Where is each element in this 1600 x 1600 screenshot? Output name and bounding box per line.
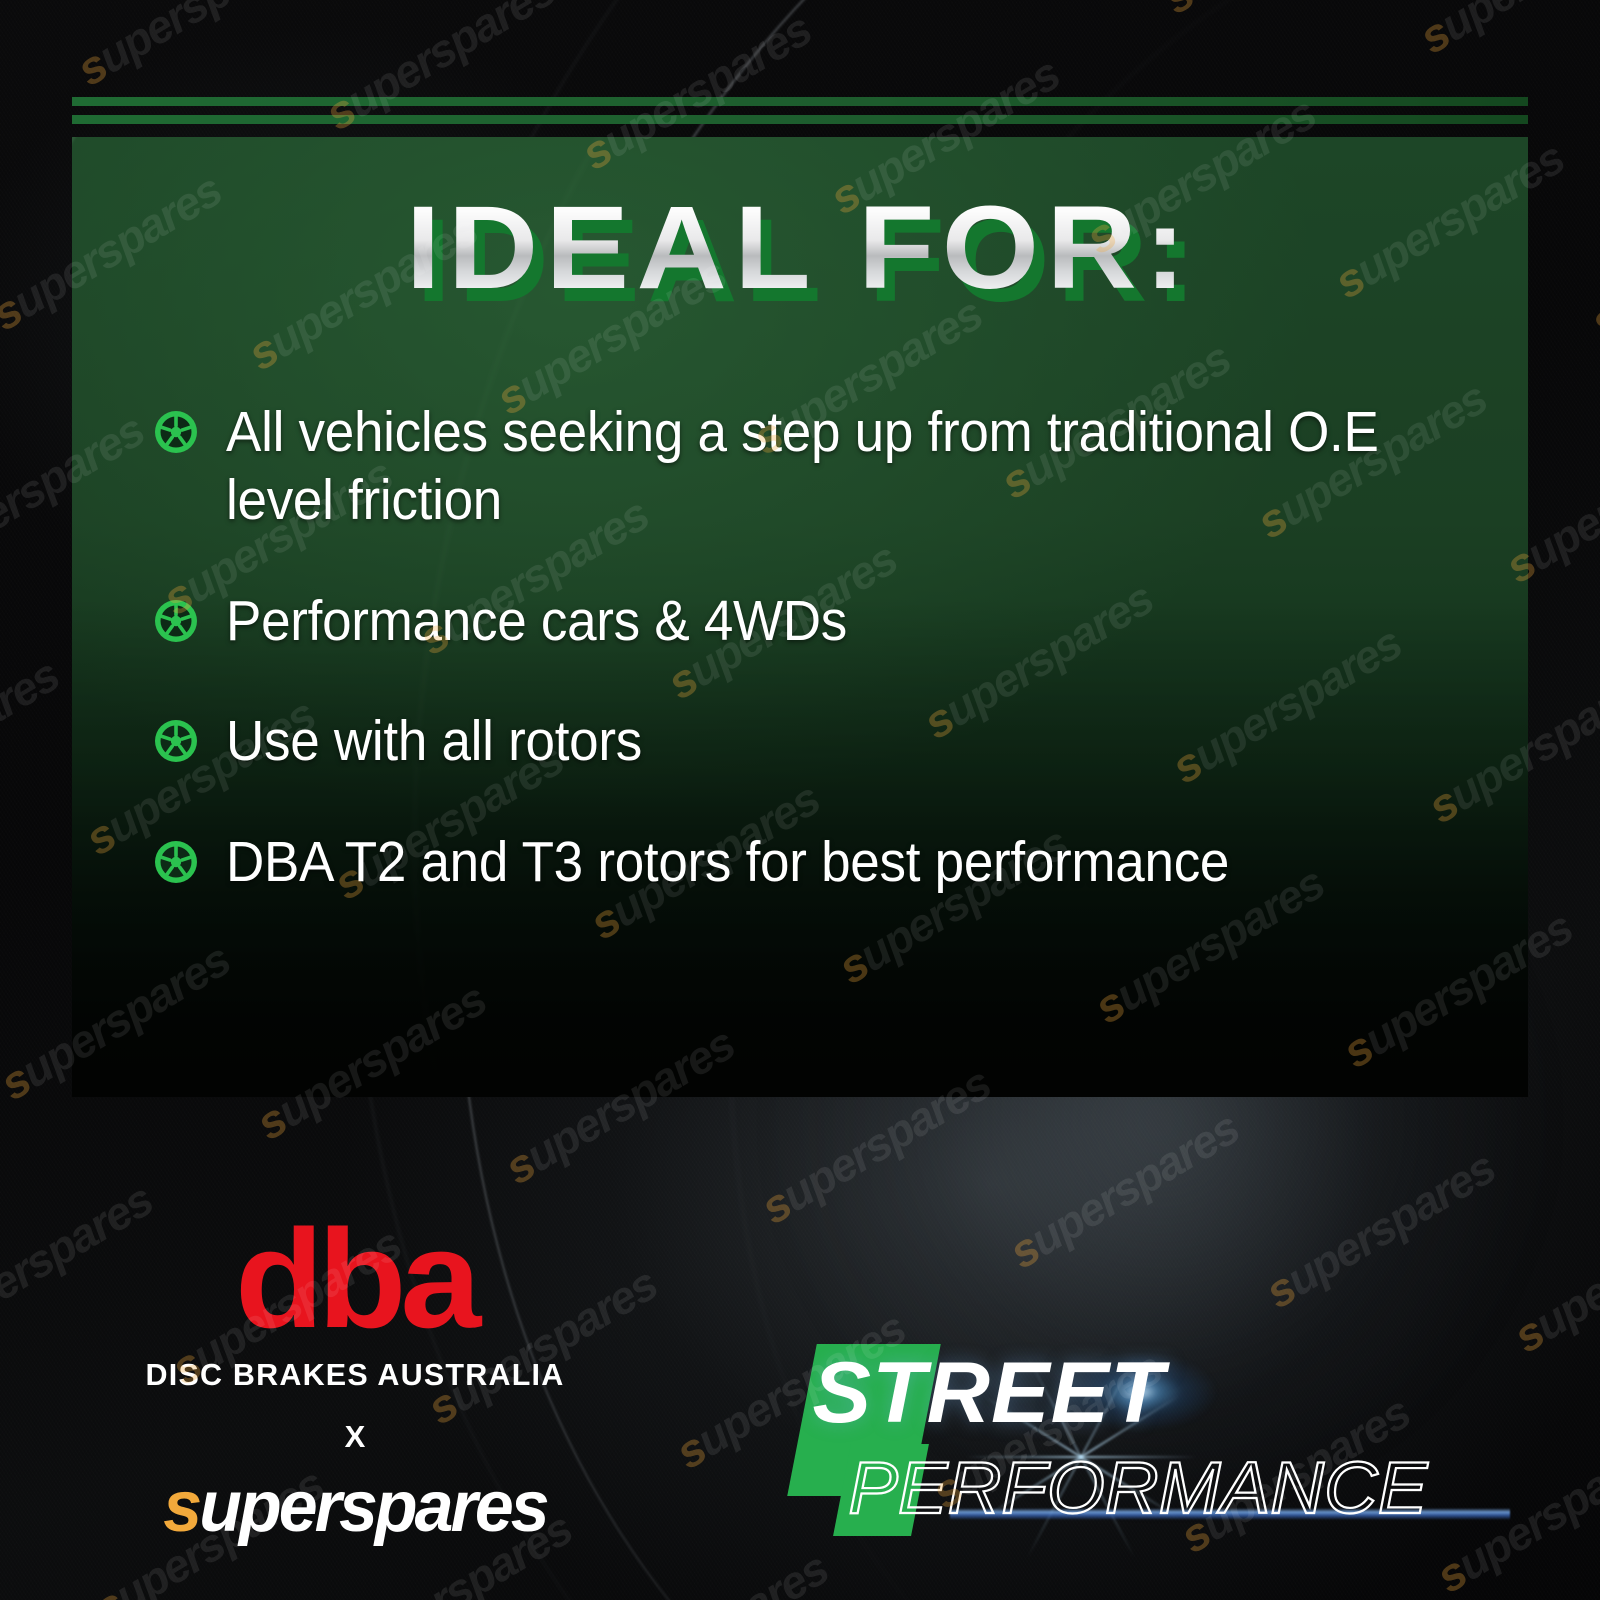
superspares-initial: s	[163, 1467, 199, 1547]
street-performance-logo: STREET PERFORMANCE	[780, 1312, 1580, 1542]
list-item: All vehicles seeking a step up from trad…	[152, 398, 1512, 535]
superspares-logo: superspares	[127, 1471, 583, 1543]
page-title-text: IDEAL FOR:	[406, 182, 1194, 314]
list-item: Performance cars & 4WDs	[152, 587, 1512, 655]
rotor-wheel-icon	[152, 838, 200, 886]
list-item-label: DBA T2 and T3 rotors for best performanc…	[226, 828, 1229, 896]
list-item-label: Performance cars & 4WDs	[226, 587, 847, 655]
brand-separator: X	[120, 1419, 590, 1455]
page-title: IDEAL FOR: IDEAL FOR:	[0, 188, 1600, 308]
street-logo-line2: PERFORMANCE	[848, 1452, 1427, 1525]
superspares-rest: uperspares	[199, 1467, 546, 1547]
rotor-wheel-icon	[152, 408, 200, 456]
street-logo-line1: STREET	[813, 1350, 1165, 1436]
list-item: Use with all rotors	[152, 707, 1512, 775]
accent-stripe-second	[72, 115, 1528, 124]
list-item: DBA T2 and T3 rotors for best performanc…	[152, 828, 1512, 896]
product-feature-poster: IDEAL FOR: IDEAL FOR: All vehicles seeki…	[0, 0, 1600, 1600]
list-item-label: Use with all rotors	[226, 707, 642, 775]
dba-logo-wordmark: dba	[111, 1215, 600, 1344]
dba-brand-lockup: dba DISC BRAKES AUSTRALIA X superspares	[120, 1215, 590, 1543]
list-item-label: All vehicles seeking a step up from trad…	[226, 398, 1422, 535]
rotor-wheel-icon	[152, 597, 200, 645]
dba-tagline: DISC BRAKES AUSTRALIA	[120, 1358, 590, 1393]
rotor-wheel-icon	[152, 717, 200, 765]
feature-list: All vehicles seeking a step up from trad…	[152, 398, 1512, 896]
accent-stripe-top	[72, 97, 1528, 106]
